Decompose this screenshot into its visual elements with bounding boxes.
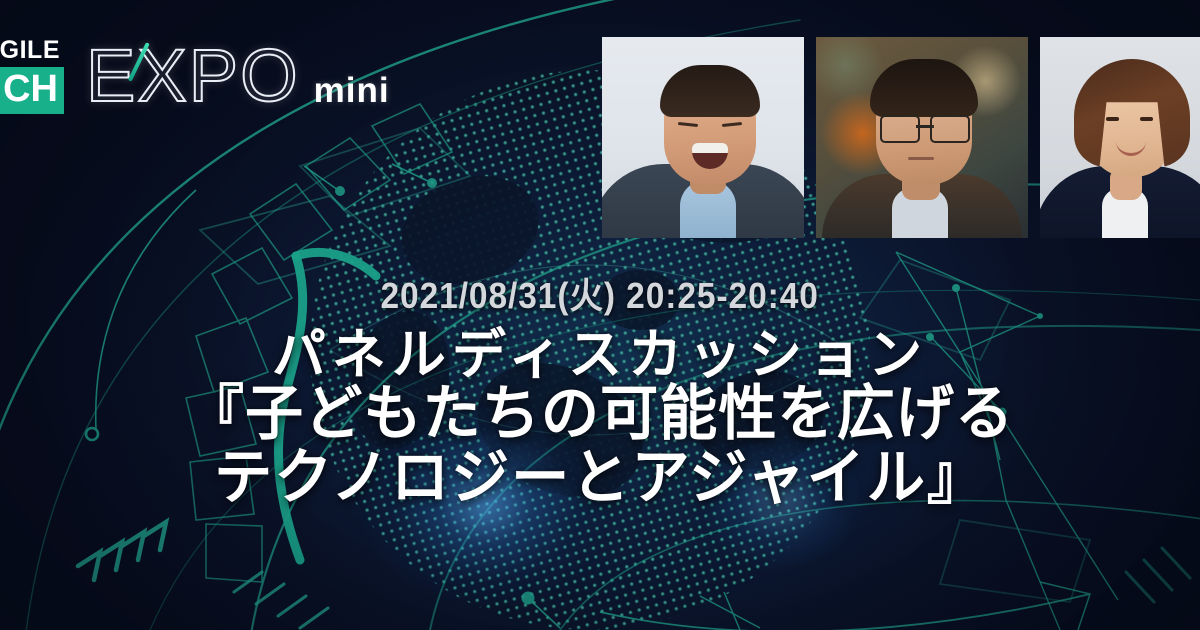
logo-tech-badge: CH xyxy=(0,67,64,114)
session-datetime: 2021/08/31(火) 20:25-20:40 xyxy=(381,278,819,314)
session-title-line-1: パネルディスカッション xyxy=(272,326,928,383)
speaker-1-teeth xyxy=(692,143,728,153)
speaker-3-eye-left xyxy=(1106,117,1119,121)
speaker-1-hair xyxy=(660,65,760,117)
speaker-photo-row xyxy=(602,37,1200,238)
logo-agile-text: GILE xyxy=(0,38,64,67)
expo-slash-accent xyxy=(128,42,150,82)
logo-mini-text: mini xyxy=(314,71,390,111)
session-title-line-2: 『子どもたちの可能性を広げる xyxy=(186,383,1014,447)
speaker-photo-1 xyxy=(602,37,804,238)
speaker-2-hair xyxy=(870,59,978,117)
speaker-2-portrait xyxy=(816,37,1028,238)
event-banner: GILE CH EXPO mini xyxy=(0,0,1200,630)
speaker-2-lens-right xyxy=(930,115,970,143)
speaker-1-portrait xyxy=(602,37,804,238)
speaker-3-eye-right xyxy=(1140,117,1153,121)
event-logo: GILE CH EXPO mini xyxy=(0,33,390,119)
session-text-block: 2021/08/31(火) 20:25-20:40 パネルディスカッション 『子… xyxy=(0,278,1200,510)
speaker-2-lens-left xyxy=(880,115,920,143)
session-title: パネルディスカッション 『子どもたちの可能性を広げる テクノロジーとアジャイル』 xyxy=(173,326,1027,510)
logo-expo-text: EXPO xyxy=(86,39,300,113)
speaker-3-portrait xyxy=(1040,37,1200,238)
session-title-line-3: テクノロジーとアジャイル』 xyxy=(213,447,986,511)
speaker-2-glasses xyxy=(880,115,970,139)
speaker-photo-2 xyxy=(816,37,1028,238)
speaker-photo-3 xyxy=(1040,37,1200,238)
speaker-2-mouth xyxy=(908,157,934,160)
agile-tech-mark: GILE CH xyxy=(0,38,64,114)
